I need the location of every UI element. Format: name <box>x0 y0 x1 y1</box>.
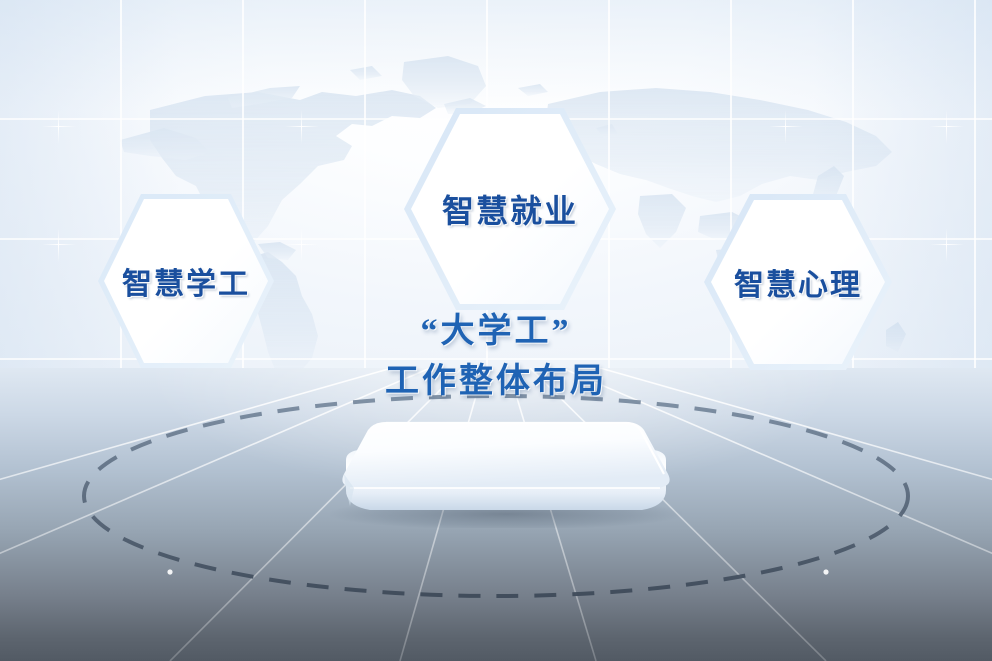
slide-canvas: 智慧学工 智慧就业 <box>0 0 992 661</box>
hexagon-card-middle[interactable]: 智慧就业 <box>402 106 618 312</box>
hexagon-label-left: 智慧学工 <box>122 259 250 303</box>
white-rounded-platform <box>330 418 682 528</box>
center-title-line1: “大学工” <box>0 310 992 354</box>
center-title-line2: 工作整体布局 <box>0 360 992 404</box>
center-title: “大学工” 工作整体布局 <box>0 310 992 404</box>
hexagon-label-right: 智慧心理 <box>734 260 862 304</box>
hexagon-label-middle: 智慧就业 <box>442 186 578 232</box>
